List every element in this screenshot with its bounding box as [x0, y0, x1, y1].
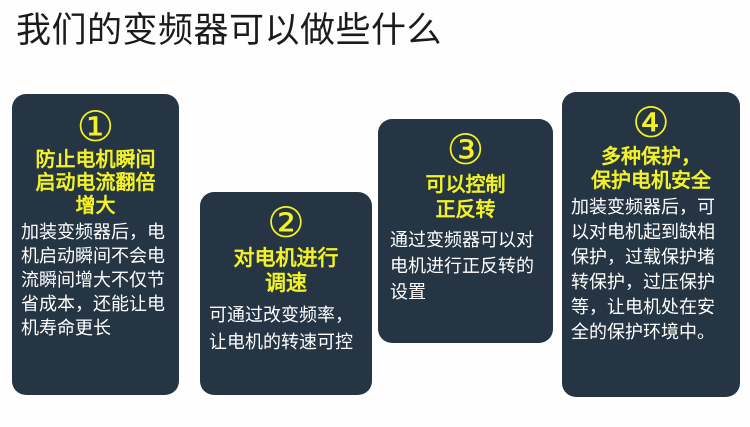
feature-card-2: ② 对电机进行 调速 可通过改变频率，让电机的转速可控	[200, 192, 372, 395]
feature-card-body-1: 加装变频器后，电机启动瞬间不会电流瞬间增大不仅节省成本，还能让电机寿命更长	[21, 220, 171, 340]
feature-card-heading-2: 对电机进行 调速	[206, 246, 366, 296]
feature-card-4: ④ 多种保护， 保护电机安全 加装变频器后，可以对电机起到缺相保护，过载保护堵转…	[562, 92, 740, 397]
step-number-badge-2: ②	[206, 202, 366, 244]
step-number-badge-3: ③	[386, 129, 545, 171]
feature-card-body-4: 加装变频器后，可以对电机起到缺相保护，过载保护堵转保护，过压保护等，让电机处在安…	[571, 195, 732, 345]
step-number-badge-1: ①	[18, 106, 173, 148]
page-title: 我们的变频器可以做些什么	[16, 8, 442, 54]
feature-card-body-2: 可通过改变频率，让电机的转速可控	[209, 302, 364, 356]
feature-card-heading-4: 多种保护， 保护电机安全	[568, 145, 734, 193]
step-number-badge-4: ④	[568, 102, 734, 144]
feature-card-body-3: 通过变频器可以对电机进行正反转的设置	[390, 227, 543, 305]
feature-card-heading-3: 可以控制 正反转	[386, 173, 545, 223]
feature-card-3: ③ 可以控制 正反转 通过变频器可以对电机进行正反转的设置	[378, 119, 553, 343]
feature-card-heading-1: 防止电机瞬间 启动电流翻倍 增大	[18, 149, 173, 218]
infographic-canvas: 我们的变频器可以做些什么 ① 防止电机瞬间 启动电流翻倍 增大 加装变频器后，电…	[0, 0, 750, 427]
feature-card-1: ① 防止电机瞬间 启动电流翻倍 增大 加装变频器后，电机启动瞬间不会电流瞬间增大…	[12, 94, 179, 395]
